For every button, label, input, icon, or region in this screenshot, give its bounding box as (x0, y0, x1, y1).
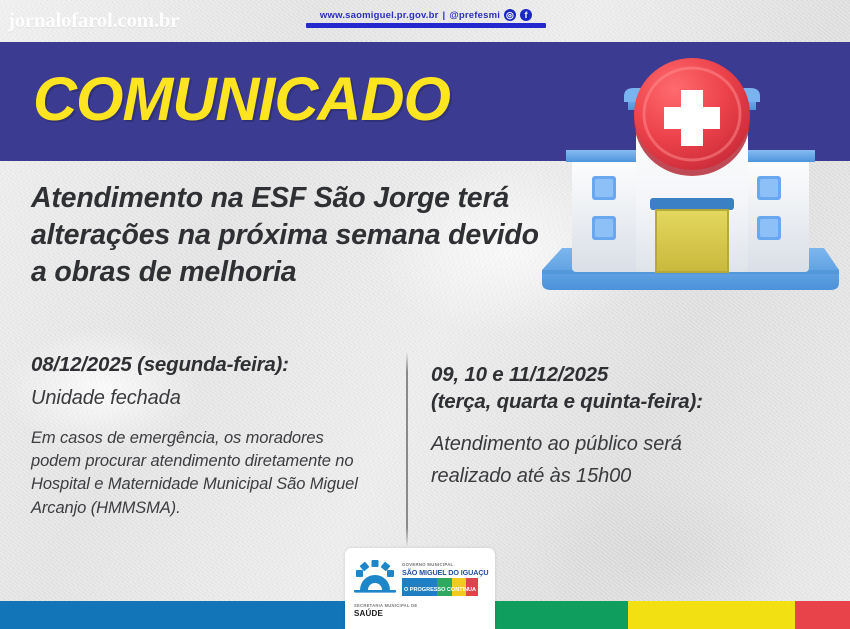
gear-sun-logo-icon (354, 560, 396, 599)
right-status-line-2: realizado até às 15h00 (431, 463, 831, 489)
site-url: www.saomiguel.pr.gov.br (320, 10, 439, 21)
schedule-column-right: 09, 10 e 11/12/2025 (terça, quarta e qui… (431, 362, 831, 489)
logo-line-3: O PROGRESSO CONTINUA (404, 587, 476, 593)
site-separator: | (443, 10, 446, 21)
site-line: www.saomiguel.pr.gov.br | @prefesmi ◎ f (306, 9, 546, 21)
secretariat-line-2: SAÚDE (354, 609, 417, 618)
announcement-poster: jornalofarol.com.br www.saomiguel.pr.gov… (0, 0, 850, 629)
right-status-line-1: Atendimento ao público será (431, 431, 831, 457)
site-handle: @prefesmi (449, 10, 500, 21)
column-divider (406, 352, 408, 547)
left-status-label: Unidade fechada (31, 385, 376, 411)
right-date-line-2: (terça, quarta e quinta-feira): (431, 389, 831, 416)
secretariat-line-1: SECRETARIA MUNICIPAL DE (354, 603, 417, 608)
site-underline (306, 23, 546, 28)
facebook-icon[interactable]: f (520, 9, 532, 21)
logo-inner: GOVERNO MUNICIPAL SÃO MIGUEL DO IGUAÇU O… (354, 560, 489, 599)
medical-cross-badge (634, 58, 750, 176)
hospital-building-illustration (524, 58, 850, 300)
left-date-label: 08/12/2025 (segunda-feira): (31, 352, 376, 379)
footer-segment-yellow (628, 601, 795, 629)
emergency-note: Em casos de emergência, os moradores pod… (31, 427, 376, 521)
municipal-logo-card: GOVERNO MUNICIPAL SÃO MIGUEL DO IGUAÇU O… (345, 548, 495, 629)
secretariat-block: SECRETARIA MUNICIPAL DE SAÚDE (354, 603, 417, 618)
footer-segment-green (495, 601, 628, 629)
logo-line-1: GOVERNO MUNICIPAL (402, 562, 489, 567)
logo-line-2: SÃO MIGUEL DO IGUAÇU (402, 568, 489, 577)
logo-line-3-wrap: O PROGRESSO CONTINUA (402, 578, 478, 596)
schedule-column-left: 08/12/2025 (segunda-feira): Unidade fech… (31, 352, 376, 520)
footer-segment-blue (0, 601, 345, 629)
banner-title: COMUNICADO (33, 64, 450, 134)
logo-text-block: GOVERNO MUNICIPAL SÃO MIGUEL DO IGUAÇU O… (402, 560, 489, 596)
entrance-door (650, 198, 734, 272)
right-date-line-1: 09, 10 e 11/12/2025 (431, 362, 831, 389)
site-watermark: jornalofarol.com.br (8, 8, 179, 33)
official-site-strip: www.saomiguel.pr.gov.br | @prefesmi ◎ f (306, 9, 546, 28)
footer-segment-red (795, 601, 850, 629)
page-title: Atendimento na ESF São Jorge terá altera… (31, 180, 541, 291)
instagram-icon[interactable]: ◎ (504, 9, 516, 21)
